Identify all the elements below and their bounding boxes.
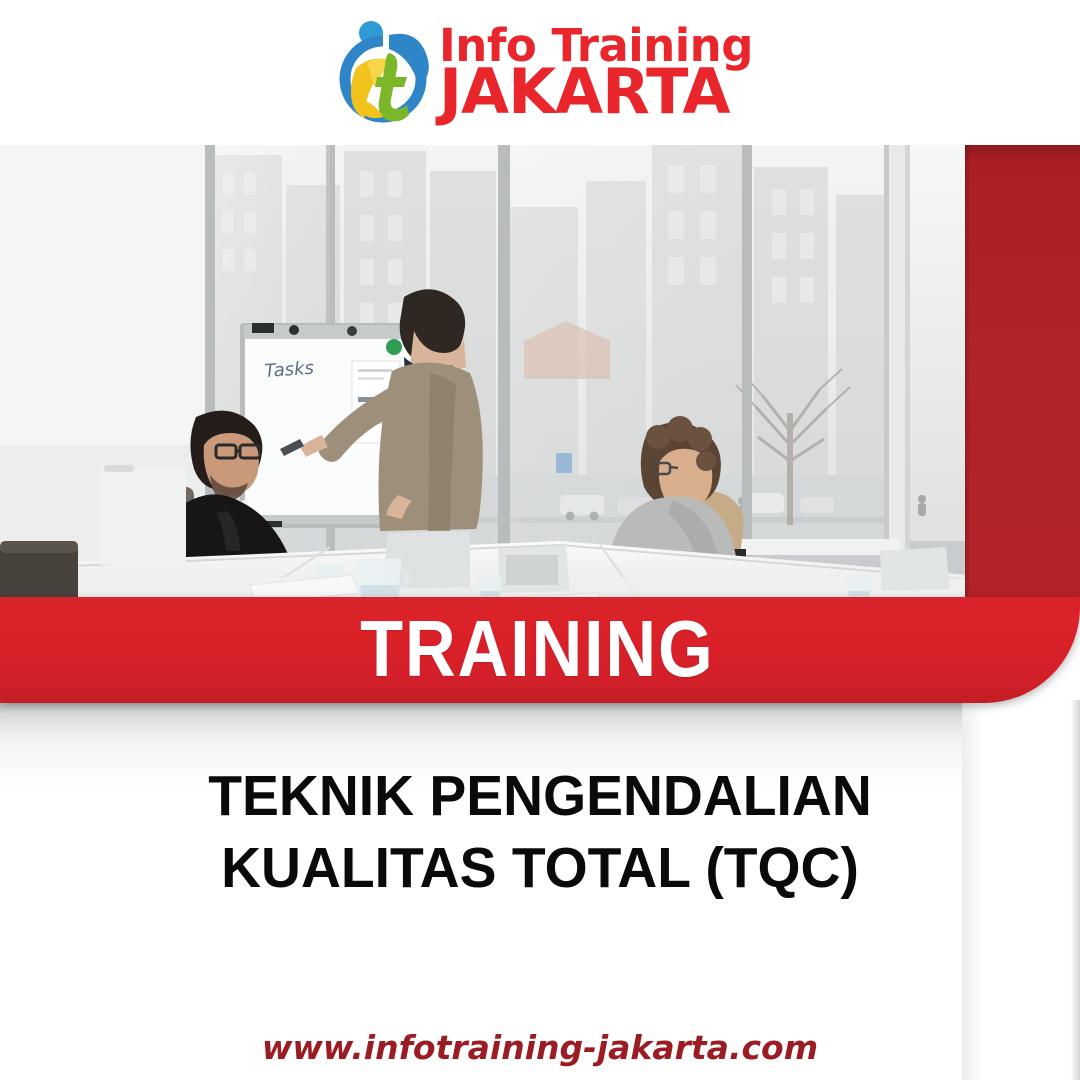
training-banner: TRAINING [0, 597, 1080, 703]
logo-text-line2: JAKARTA [439, 63, 753, 120]
course-title: TEKNIK PENGENDALIAN KUALITAS TOTAL (TQC) [0, 760, 1080, 904]
logo[interactable]: Info Training JAKARTA [327, 19, 753, 127]
it-monogram-icon [327, 19, 439, 127]
meeting-room-illustration: Tasks [0, 145, 968, 600]
website-url[interactable]: www.infotraining-jakarta.com [0, 1028, 1080, 1067]
training-poster: Tasks [0, 0, 1080, 1080]
course-title-line2: KUALITAS TOTAL (TQC) [16, 832, 1064, 904]
brand-header: Info Training JAKARTA [0, 0, 1080, 145]
hero-photo: Tasks [0, 145, 968, 600]
whiteboard-tasks-text: Tasks [264, 358, 315, 382]
website-url-text: www.infotraining-jakarta.com [262, 1028, 818, 1067]
banner-title: TRAINING [360, 603, 714, 695]
right-red-accent-bar [965, 145, 1080, 600]
course-title-line1: TEKNIK PENGENDALIAN [16, 760, 1064, 832]
